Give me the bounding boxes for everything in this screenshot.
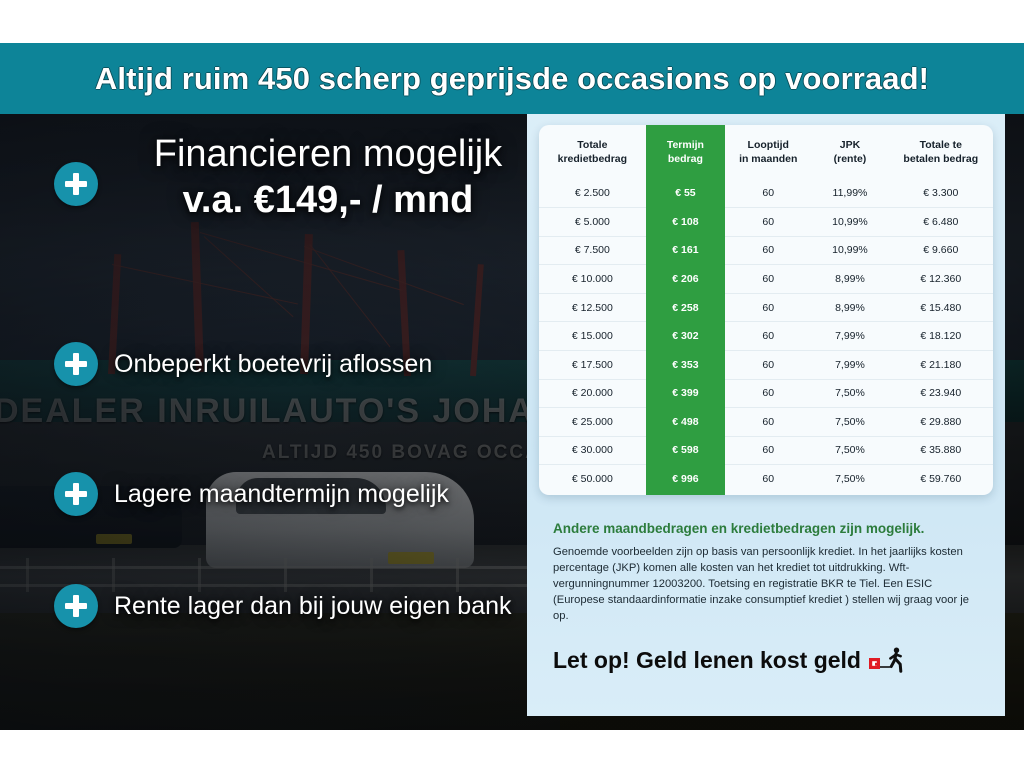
table-cell: 7,99% — [811, 350, 888, 379]
column-header-line1: Termijn — [667, 139, 704, 151]
rates-table: Totale kredietbedrag Termijn bedrag Loop… — [539, 125, 993, 493]
column-header-line2: kredietbedrag — [558, 153, 627, 165]
rates-table-body: € 2.500€ 556011,99%€ 3.300€ 5.000€ 10860… — [539, 179, 993, 494]
advertisement-stage: DEALER INRUILAUTO'S JOHAN MEURE ALTIJD 4… — [0, 0, 1024, 768]
table-cell: € 2.500 — [539, 179, 646, 208]
table-cell: 60 — [725, 293, 811, 322]
table-cell: € 9.660 — [889, 236, 993, 265]
green-column-extension — [646, 493, 725, 495]
table-row: € 50.000€ 996607,50%€ 59.760 — [539, 465, 993, 494]
table-cell: 60 — [725, 179, 811, 208]
feature-item-1: Lagere maandtermijn mogelijk — [54, 472, 449, 516]
table-cell: € 302 — [646, 322, 725, 351]
table-cell: € 598 — [646, 436, 725, 465]
table-cell: € 35.880 — [889, 436, 993, 465]
column-header-line1: Totale — [577, 139, 607, 151]
financing-headline-line2: v.a. €149,- / mnd — [108, 177, 548, 225]
column-header-line1: Looptijd — [748, 139, 789, 151]
table-cell: 7,50% — [811, 465, 888, 494]
table-cell: 60 — [725, 408, 811, 437]
column-header-0: Totale kredietbedrag — [539, 125, 646, 179]
plus-icon — [54, 584, 98, 628]
table-cell: 8,99% — [811, 293, 888, 322]
rates-panel: Totale kredietbedrag Termijn bedrag Loop… — [527, 114, 1005, 716]
table-cell: € 55 — [646, 179, 725, 208]
table-row: € 2.500€ 556011,99%€ 3.300 — [539, 179, 993, 208]
table-cell: 10,99% — [811, 236, 888, 265]
table-cell: € 15.000 — [539, 322, 646, 351]
table-cell: € 10.000 — [539, 265, 646, 294]
feature-label: Rente lager dan bij jouw eigen bank — [114, 592, 512, 621]
feature-list: Financieren mogelijk v.a. €149,- / mnd O… — [0, 114, 560, 730]
feature-item-financing — [54, 162, 98, 206]
feature-item-0: Onbeperkt boetevrij aflossen — [54, 342, 432, 386]
plus-icon — [54, 162, 98, 206]
table-cell: € 7.500 — [539, 236, 646, 265]
table-cell: € 353 — [646, 350, 725, 379]
table-cell: € 498 — [646, 408, 725, 437]
table-cell: 7,50% — [811, 408, 888, 437]
table-cell: 8,99% — [811, 265, 888, 294]
table-cell: 60 — [725, 236, 811, 265]
table-row: € 5.000€ 1086010,99%€ 6.480 — [539, 207, 993, 236]
credit-warning: Let op! Geld lenen kost geld — [539, 625, 993, 674]
table-row: € 15.000€ 302607,99%€ 18.120 — [539, 322, 993, 351]
table-cell: € 20.000 — [539, 379, 646, 408]
table-cell: € 50.000 — [539, 465, 646, 494]
table-header-row: Totale kredietbedrag Termijn bedrag Loop… — [539, 125, 993, 179]
table-row: € 12.500€ 258608,99%€ 15.480 — [539, 293, 993, 322]
promo-banner: Altijd ruim 450 scherp geprijsde occasio… — [0, 43, 1024, 114]
table-cell: 7,50% — [811, 379, 888, 408]
feature-item-2: Rente lager dan bij jouw eigen bank — [54, 584, 512, 628]
table-cell: € 15.480 — [889, 293, 993, 322]
column-header-line2: (rente) — [834, 153, 867, 165]
table-cell: 7,50% — [811, 436, 888, 465]
table-cell: € 996 — [646, 465, 725, 494]
table-cell: 11,99% — [811, 179, 888, 208]
disclaimer-title: Andere maandbedragen en kredietbedragen … — [553, 521, 979, 536]
column-header-line1: JPK — [840, 139, 860, 151]
table-cell: 60 — [725, 322, 811, 351]
table-cell: € 12.500 — [539, 293, 646, 322]
table-cell: € 21.180 — [889, 350, 993, 379]
table-row: € 25.000€ 498607,50%€ 29.880 — [539, 408, 993, 437]
table-cell: € 12.360 — [889, 265, 993, 294]
table-row: € 10.000€ 206608,99%€ 12.360 — [539, 265, 993, 294]
column-header-4: Totale te betalen bedrag — [889, 125, 993, 179]
column-header-1: Termijn bedrag — [646, 125, 725, 179]
credit-warning-text: Let op! Geld lenen kost geld — [553, 647, 861, 674]
table-cell: 60 — [725, 465, 811, 494]
table-cell: 60 — [725, 207, 811, 236]
column-header-line2: bedrag — [668, 153, 703, 165]
table-cell: € 161 — [646, 236, 725, 265]
column-header-line2: betalen bedrag — [903, 153, 978, 165]
table-cell: € 5.000 — [539, 207, 646, 236]
table-cell: € 59.760 — [889, 465, 993, 494]
table-cell: € 17.500 — [539, 350, 646, 379]
plus-icon — [54, 472, 98, 516]
table-row: € 20.000€ 399607,50%€ 23.940 — [539, 379, 993, 408]
table-cell: € 108 — [646, 207, 725, 236]
plus-icon — [54, 342, 98, 386]
table-cell: € 29.880 — [889, 408, 993, 437]
column-header-3: JPK (rente) — [811, 125, 888, 179]
table-cell: € 6.480 — [889, 207, 993, 236]
table-cell: € 30.000 — [539, 436, 646, 465]
feature-label: Lagere maandtermijn mogelijk — [114, 480, 449, 509]
financing-headline: Financieren mogelijk v.a. €149,- / mnd — [108, 132, 548, 224]
table-cell: 60 — [725, 436, 811, 465]
table-cell: € 18.120 — [889, 322, 993, 351]
disclaimer-body: Genoemde voorbeelden zijn op basis van p… — [553, 545, 979, 625]
table-cell: € 3.300 — [889, 179, 993, 208]
rates-table-card: Totale kredietbedrag Termijn bedrag Loop… — [539, 125, 993, 495]
afm-walking-man-icon — [869, 647, 909, 673]
table-cell: € 23.940 — [889, 379, 993, 408]
disclaimer-block: Andere maandbedragen en kredietbedragen … — [539, 495, 993, 625]
table-cell: 10,99% — [811, 207, 888, 236]
feature-label: Onbeperkt boetevrij aflossen — [114, 350, 432, 379]
table-row: € 7.500€ 1616010,99%€ 9.660 — [539, 236, 993, 265]
table-row: € 30.000€ 598607,50%€ 35.880 — [539, 436, 993, 465]
promo-banner-text: Altijd ruim 450 scherp geprijsde occasio… — [95, 61, 929, 97]
column-header-line2: in maanden — [739, 153, 797, 165]
financing-headline-line1: Financieren mogelijk — [108, 132, 548, 177]
column-header-line1: Totale te — [920, 139, 962, 151]
table-cell: € 258 — [646, 293, 725, 322]
table-cell: 60 — [725, 350, 811, 379]
table-cell: 60 — [725, 265, 811, 294]
table-cell: 60 — [725, 379, 811, 408]
table-cell: € 206 — [646, 265, 725, 294]
column-header-2: Looptijd in maanden — [725, 125, 811, 179]
table-row: € 17.500€ 353607,99%€ 21.180 — [539, 350, 993, 379]
rates-table-head: Totale kredietbedrag Termijn bedrag Loop… — [539, 125, 993, 179]
table-cell: € 399 — [646, 379, 725, 408]
table-cell: € 25.000 — [539, 408, 646, 437]
table-cell: 7,99% — [811, 322, 888, 351]
